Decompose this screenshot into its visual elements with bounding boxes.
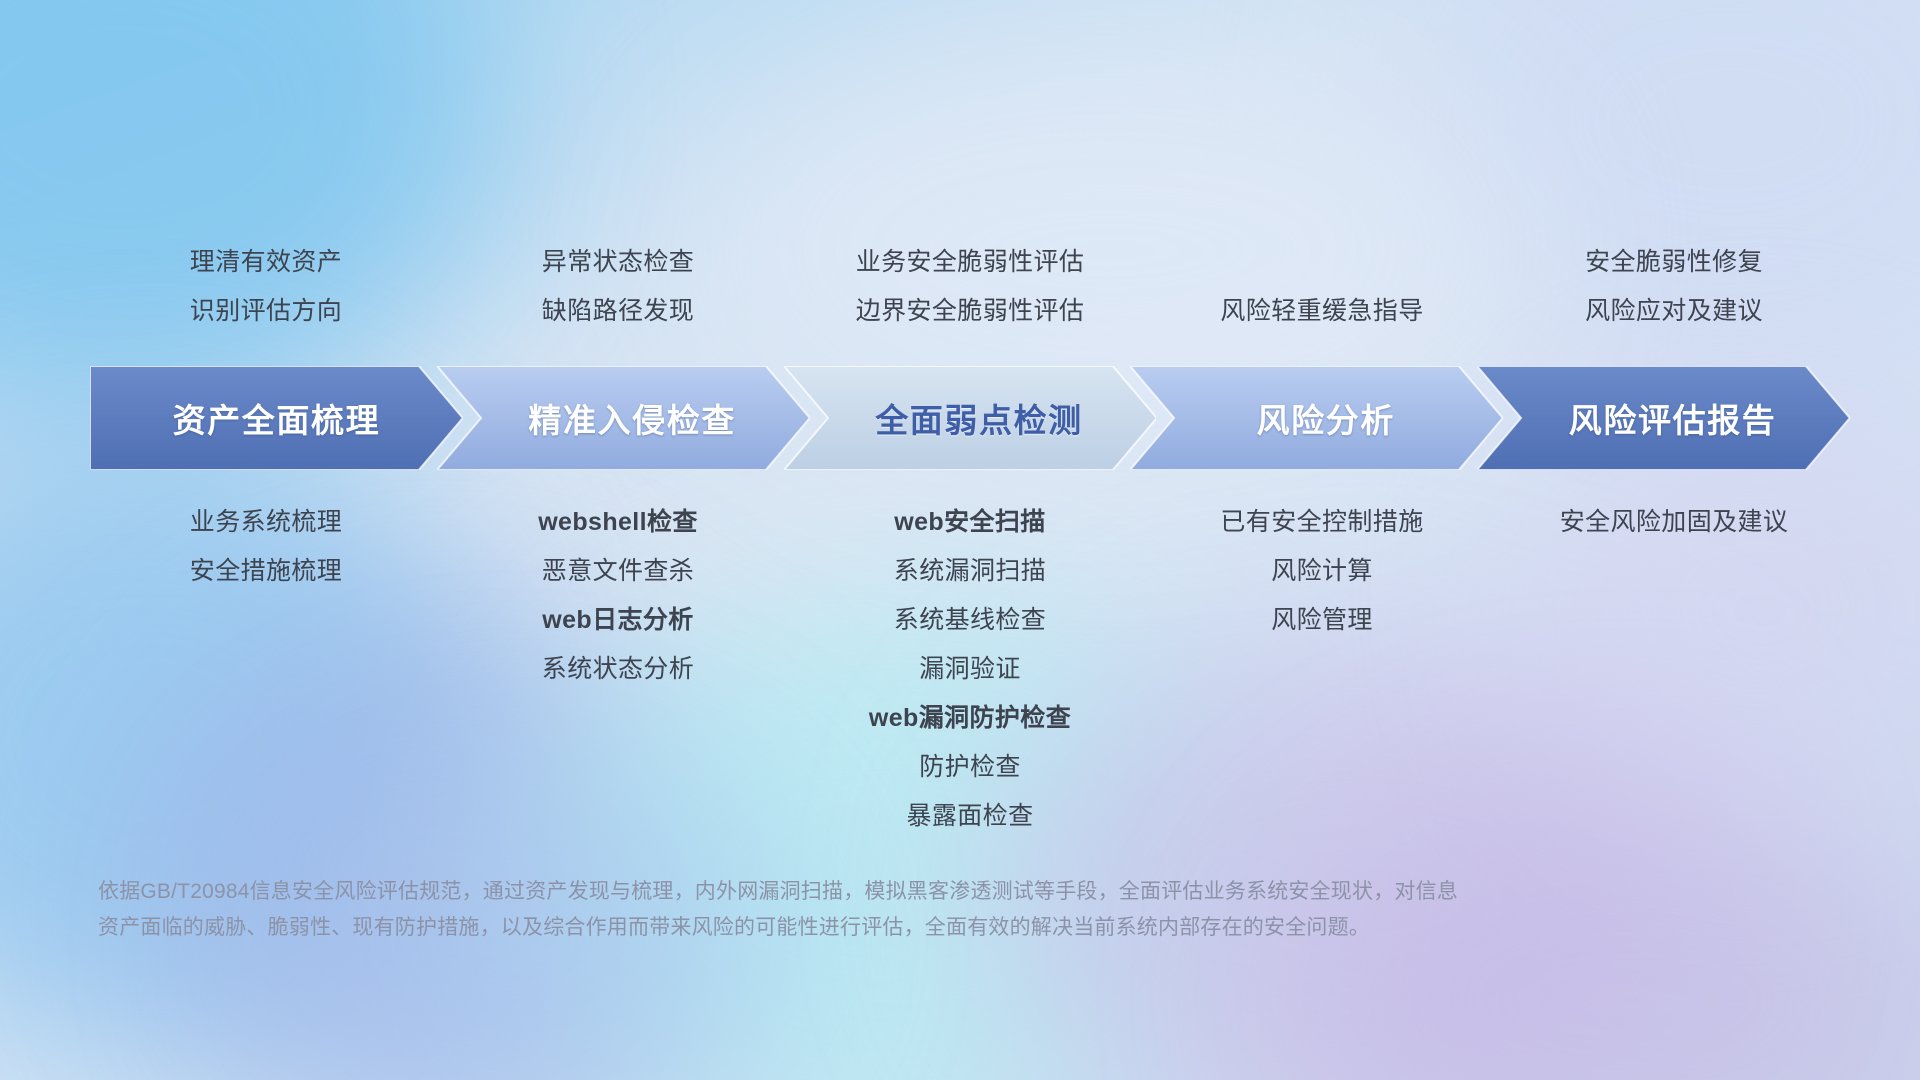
chevron-label: 全面弱点检测 — [875, 394, 1083, 442]
stage-bottom-item: 防护检查 — [794, 743, 1146, 792]
stage-bottom-item: 风险管理 — [1146, 596, 1498, 645]
chevron-stage-asset-inventory[interactable]: 资产全面梳理 — [90, 366, 463, 470]
stage-top-list: 异常状态检查缺陷路径发现 — [442, 238, 794, 336]
stage-bottom-list: 安全风险加固及建议 — [1498, 498, 1850, 547]
chevron-stage-intrusion-check[interactable]: 精准入侵检查 — [437, 366, 810, 470]
stage-bottom-item: 系统状态分析 — [442, 645, 794, 694]
stage-top-item: 异常状态检查 — [442, 238, 794, 287]
stage-top-list: 理清有效资产识别评估方向 — [90, 238, 442, 336]
process-chevron-band: 资产全面梳理 精准入侵检查 全面弱点检测 风险分析 — [90, 366, 1850, 470]
footer-description: 依据GB/T20984信息安全风险评估规范，通过资产发现与梳理，内外网漏洞扫描，… — [98, 874, 1798, 946]
footer-line-2: 资产面临的威胁、脆弱性、现有防护措施，以及综合作用而带来风险的可能性进行评估，全… — [98, 910, 1798, 946]
stage-top-list: 业务安全脆弱性评估边界安全脆弱性评估 — [794, 238, 1146, 336]
stage-bottom-item: 业务系统梳理 — [90, 498, 442, 547]
footer-line-1: 依据GB/T20984信息安全风险评估规范，通过资产发现与梳理，内外网漏洞扫描，… — [98, 874, 1798, 910]
chevron-label: 风险评估报告 — [1569, 394, 1777, 442]
slide-canvas: 资产全面梳理 精准入侵检查 全面弱点检测 风险分析 — [0, 0, 1920, 1080]
chevron-stage-risk-analysis[interactable]: 风险分析 — [1130, 366, 1503, 470]
chevron-label: 资产全面梳理 — [173, 394, 381, 442]
stage-bottom-item: 漏洞验证 — [794, 645, 1146, 694]
stage-top-item: 风险轻重缓急指导 — [1146, 287, 1498, 336]
chevron-label: 风险分析 — [1257, 394, 1395, 442]
stage-bottom-item: 系统漏洞扫描 — [794, 547, 1146, 596]
stage-bottom-item: 暴露面检查 — [794, 792, 1146, 841]
stage-bottom-item: 已有安全控制措施 — [1146, 498, 1498, 547]
stage-top-list: 安全脆弱性修复风险应对及建议 — [1498, 238, 1850, 336]
stage-bottom-list: webshell检查恶意文件查杀web日志分析系统状态分析 — [442, 498, 794, 694]
stage-bottom-item: 系统基线检查 — [794, 596, 1146, 645]
stage-top-list: 风险轻重缓急指导 — [1146, 287, 1498, 336]
stage-top-item: 理清有效资产 — [90, 238, 442, 287]
stage-bottom-list: 业务系统梳理安全措施梳理 — [90, 498, 442, 596]
chevron-label: 精准入侵检查 — [528, 394, 736, 442]
stage-top-item: 识别评估方向 — [90, 287, 442, 336]
stage-bottom-item: web安全扫描 — [794, 498, 1146, 547]
stage-top-item: 边界安全脆弱性评估 — [794, 287, 1146, 336]
stage-bottom-item: web漏洞防护检查 — [794, 694, 1146, 743]
stage-bottom-item: 安全措施梳理 — [90, 547, 442, 596]
stage-bottom-list: web安全扫描系统漏洞扫描系统基线检查漏洞验证web漏洞防护检查防护检查暴露面检… — [794, 498, 1146, 841]
stage-bottom-list: 已有安全控制措施风险计算风险管理 — [1146, 498, 1498, 645]
chevron-stage-weakness-detection[interactable]: 全面弱点检测 — [784, 366, 1157, 470]
stage-bottom-item: webshell检查 — [442, 498, 794, 547]
stage-top-item: 风险应对及建议 — [1498, 287, 1850, 336]
chevron-stage-assessment-report[interactable]: 风险评估报告 — [1477, 366, 1850, 470]
stage-top-item: 业务安全脆弱性评估 — [794, 238, 1146, 287]
stage-bottom-item: 安全风险加固及建议 — [1498, 498, 1850, 547]
stage-top-item: 缺陷路径发现 — [442, 287, 794, 336]
stage-bottom-item: web日志分析 — [442, 596, 794, 645]
stage-bottom-item: 恶意文件查杀 — [442, 547, 794, 596]
stage-bottom-item: 风险计算 — [1146, 547, 1498, 596]
stage-top-item: 安全脆弱性修复 — [1498, 238, 1850, 287]
